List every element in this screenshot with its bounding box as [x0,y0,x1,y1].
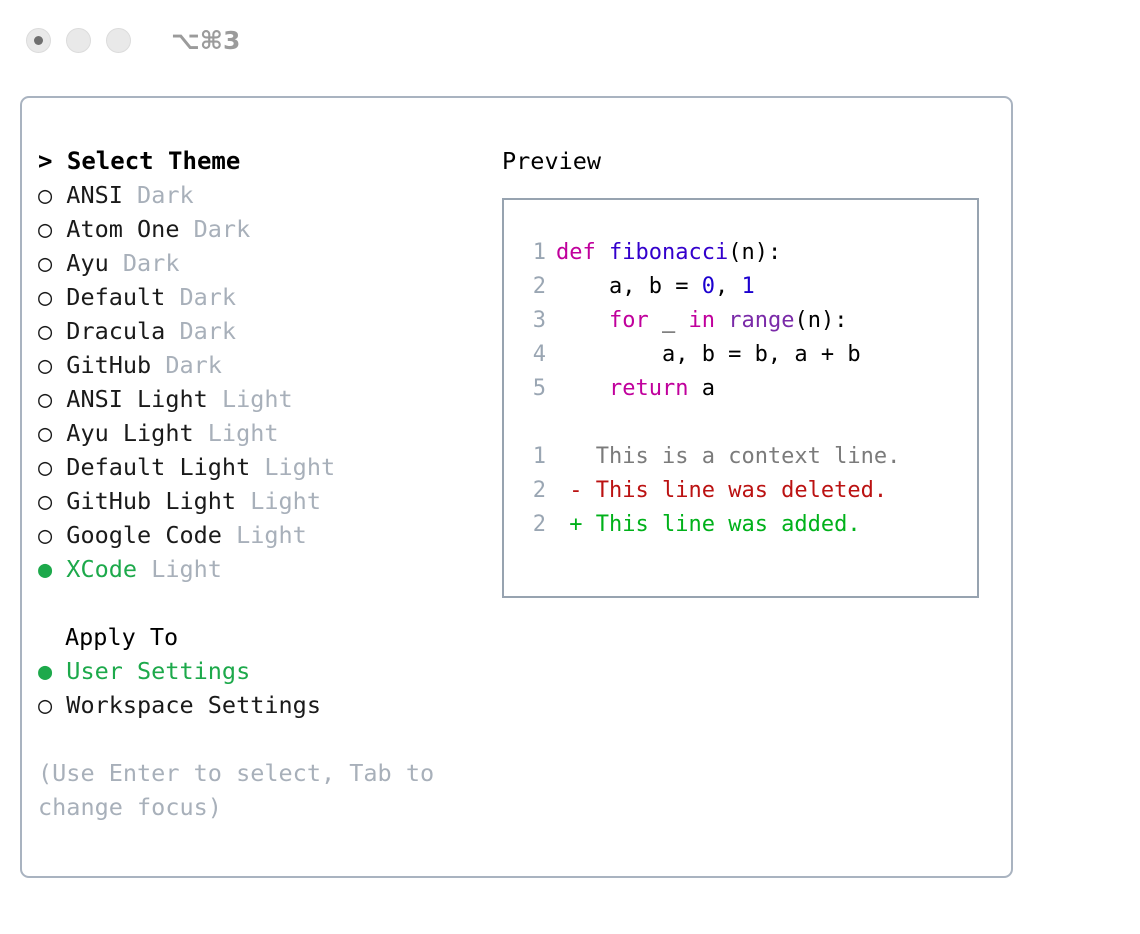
hint-spacer [38,722,478,756]
code-line: 1def fibonacci(n): [518,236,977,270]
diff-text: This is a context line. [596,444,901,469]
theme-list-item[interactable]: ○ Dracula Dark [38,314,478,348]
code-token: 0 [702,274,715,299]
traffic-light-minimize[interactable] [66,28,91,53]
code-token: a, b = [556,274,702,299]
code-token: a [688,376,715,401]
code-token: a, b = b, a + b [556,342,861,367]
code-token: , [715,274,742,299]
code-token: def [556,240,596,265]
theme-name: Atom One [66,215,193,243]
diff-text: This line was deleted. [596,478,887,503]
diff-sign [556,444,596,469]
code-line: 3 for _ in range(n): [518,304,977,338]
app-window: ⌥⌘3 > Select Theme ○ ANSI Dark○ Atom One… [0,0,1140,934]
apply-to-option[interactable]: ○ Workspace Settings [38,688,478,722]
theme-list-item[interactable]: ○ Ayu Dark [38,246,478,280]
line-number: 2 [518,508,546,542]
code-line: 5 return a [518,372,977,406]
apply-to-list: ● User Settings○ Workspace Settings [38,654,478,722]
theme-name: Ayu Light [66,419,207,447]
theme-list-item[interactable]: ○ Default Dark [38,280,478,314]
theme-variant: Dark [123,249,180,277]
diff-line: 2 - This line was deleted. [518,474,977,508]
line-number: 4 [518,338,546,372]
preview-header: Preview [502,144,1002,178]
line-number: 3 [518,304,546,338]
radio-unselected-icon: ○ [38,351,66,379]
theme-list-item[interactable]: ○ ANSI Dark [38,178,478,212]
code-token [556,376,609,401]
radio-unselected-icon: ○ [38,419,66,447]
main-panel: > Select Theme ○ ANSI Dark○ Atom One Dar… [20,96,1013,878]
theme-list-item[interactable]: ○ ANSI Light Light [38,382,478,416]
code-diff-spacer [518,406,977,440]
theme-list-item[interactable]: ○ GitHub Light Light [38,484,478,518]
radio-unselected-icon: ○ [38,385,66,413]
apply-to-label: User Settings [66,657,250,685]
radio-unselected-icon: ○ [38,487,66,515]
code-token: fibonacci [609,240,728,265]
line-number: 2 [518,270,546,304]
diff-sign: - [556,478,596,503]
theme-name: Default Light [66,453,264,481]
keyboard-shortcut-label: ⌥⌘3 [171,26,240,55]
code-line: 2 a, b = 0, 1 [518,270,977,304]
preview-column: Preview 1def fibonacci(n):2 a, b = 0, 13… [502,144,1002,598]
traffic-light-dot-icon [34,36,43,45]
code-token [556,308,609,333]
theme-variant: Light [151,555,222,583]
code-token [715,308,728,333]
theme-variant: Dark [165,351,222,379]
theme-name: XCode [66,555,151,583]
theme-variant: Light [208,419,279,447]
apply-to-label: Workspace Settings [66,691,321,719]
theme-name: ANSI [66,181,137,209]
traffic-light-maximize[interactable] [106,28,131,53]
diff-sample: 1 This is a context line.2 - This line w… [518,440,977,542]
radio-selected-icon: ● [38,555,66,583]
theme-variant: Light [250,487,321,515]
code-token: in [688,308,715,333]
radio-unselected-icon: ○ [38,215,66,243]
theme-name: Ayu [66,249,123,277]
code-token: 1 [741,274,754,299]
title-bar: ⌥⌘3 [0,0,1140,80]
line-number: 2 [518,474,546,508]
theme-list-item[interactable]: ○ GitHub Dark [38,348,478,382]
code-token: return [609,376,688,401]
theme-picker-column: > Select Theme ○ ANSI Dark○ Atom One Dar… [38,144,478,824]
theme-name: Default [66,283,179,311]
apply-to-option[interactable]: ● User Settings [38,654,478,688]
theme-list: ○ ANSI Dark○ Atom One Dark○ Ayu Dark○ De… [38,178,478,586]
theme-list-item[interactable]: ○ Atom One Dark [38,212,478,246]
traffic-light-close[interactable] [26,28,51,53]
radio-selected-icon: ● [38,657,66,685]
theme-name: ANSI Light [66,385,222,413]
radio-unselected-icon: ○ [38,181,66,209]
radio-unselected-icon: ○ [38,283,66,311]
radio-unselected-icon: ○ [38,317,66,345]
radio-unselected-icon: ○ [38,521,66,549]
radio-unselected-icon: ○ [38,691,66,719]
code-token: (n): [728,240,781,265]
diff-sign: + [556,512,596,537]
diff-line: 2 + This line was added. [518,508,977,542]
select-theme-header: > Select Theme [38,144,478,178]
theme-list-item[interactable]: ○ Ayu Light Light [38,416,478,450]
keyboard-hint-text: (Use Enter to select, Tab to change focu… [38,756,458,824]
code-token: for [609,308,649,333]
code-token: range [728,308,794,333]
radio-unselected-icon: ○ [38,453,66,481]
theme-variant: Light [222,385,293,413]
theme-name: Google Code [66,521,236,549]
section-spacer [38,586,478,620]
theme-variant: Dark [179,283,236,311]
diff-text: This line was added. [596,512,861,537]
theme-variant: Dark [194,215,251,243]
code-token: _ [649,308,689,333]
theme-variant: Dark [179,317,236,345]
radio-unselected-icon: ○ [38,249,66,277]
code-line: 4 a, b = b, a + b [518,338,977,372]
theme-list-item[interactable]: ○ Default Light Light [38,450,478,484]
theme-preview-box: 1def fibonacci(n):2 a, b = 0, 13 for _ i… [502,198,979,598]
theme-name: GitHub Light [66,487,250,515]
theme-variant: Light [236,521,307,549]
line-number: 5 [518,372,546,406]
code-sample: 1def fibonacci(n):2 a, b = 0, 13 for _ i… [518,236,977,406]
line-number: 1 [518,440,546,474]
theme-variant: Dark [137,181,194,209]
code-token [596,240,609,265]
apply-to-header: Apply To [38,620,478,654]
theme-list-item[interactable]: ○ Google Code Light [38,518,478,552]
code-token: (n): [794,308,847,333]
theme-name: Dracula [66,317,179,345]
line-number: 1 [518,236,546,270]
theme-name: GitHub [66,351,165,379]
theme-list-item[interactable]: ● XCode Light [38,552,478,586]
theme-variant: Light [264,453,335,481]
diff-line: 1 This is a context line. [518,440,977,474]
